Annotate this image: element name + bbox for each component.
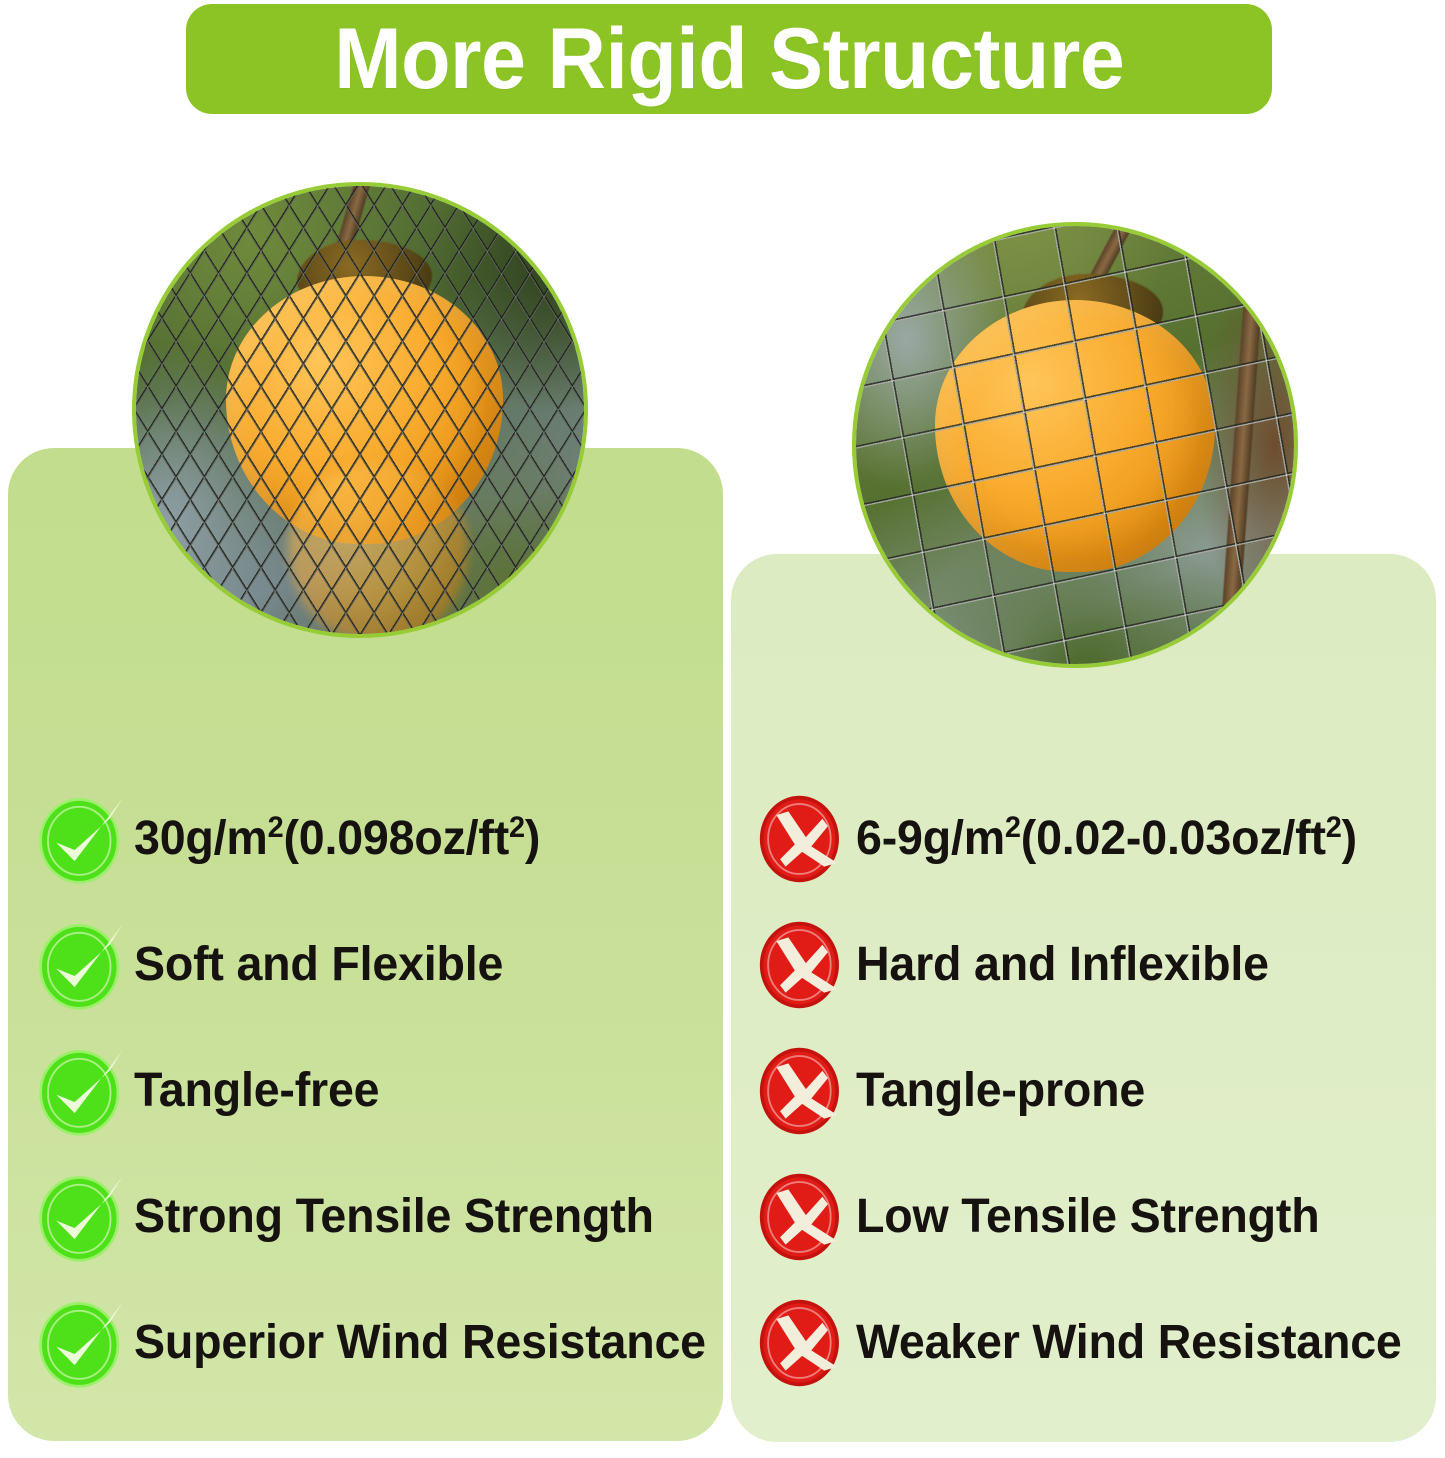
product-photo-left xyxy=(132,182,588,638)
green-check-icon xyxy=(40,925,120,1005)
feature-row: Low Tensile Strength xyxy=(762,1154,1434,1280)
feature-row: 30g/m2(0.098oz/ft2) xyxy=(40,776,720,902)
feature-row: Strong Tensile Strength xyxy=(40,1154,720,1280)
feature-label: Tangle-free xyxy=(134,1067,379,1115)
page-title: More Rigid Structure xyxy=(334,16,1124,102)
title-banner: More Rigid Structure xyxy=(186,4,1272,114)
feature-row: Soft and Flexible xyxy=(40,902,720,1028)
feature-row: Hard and Inflexible xyxy=(762,902,1434,1028)
feature-label: Weaker Wind Resistance xyxy=(856,1319,1402,1367)
feature-label: Hard and Inflexible xyxy=(856,941,1269,989)
feature-list-left: 30g/m2(0.098oz/ft2) Soft and Flexible Ta… xyxy=(40,776,720,1406)
feature-row: Superior Wind Resistance xyxy=(40,1280,720,1406)
feature-label: Superior Wind Resistance xyxy=(134,1319,706,1367)
feature-label: Strong Tensile Strength xyxy=(134,1193,654,1241)
product-photo-right xyxy=(852,222,1298,668)
feature-label: Tangle-prone xyxy=(856,1067,1145,1115)
green-check-icon xyxy=(40,799,120,879)
feature-label: 30g/m2(0.098oz/ft2) xyxy=(134,815,540,863)
green-check-icon xyxy=(40,1303,120,1383)
red-cross-icon xyxy=(762,799,842,879)
feature-label: 6-9g/m2(0.02-0.03oz/ft2) xyxy=(856,815,1357,863)
feature-label: Low Tensile Strength xyxy=(856,1193,1319,1241)
feature-row: 6-9g/m2(0.02-0.03oz/ft2) xyxy=(762,776,1434,902)
red-cross-icon xyxy=(762,1051,842,1131)
green-check-icon xyxy=(40,1177,120,1257)
red-cross-icon xyxy=(762,1303,842,1383)
red-cross-icon xyxy=(762,1177,842,1257)
feature-row: Weaker Wind Resistance xyxy=(762,1280,1434,1406)
fine-mesh-net-highlight xyxy=(132,182,588,638)
red-cross-icon xyxy=(762,925,842,1005)
feature-row: Tangle-free xyxy=(40,1028,720,1154)
photo-right-content xyxy=(856,226,1294,664)
coarse-mesh-net-highlight xyxy=(852,222,1298,668)
feature-row: Tangle-prone xyxy=(762,1028,1434,1154)
photo-left-content xyxy=(136,186,584,634)
feature-label: Soft and Flexible xyxy=(134,941,503,989)
feature-list-right: 6-9g/m2(0.02-0.03oz/ft2) Hard and Inflex… xyxy=(762,776,1434,1406)
green-check-icon xyxy=(40,1051,120,1131)
